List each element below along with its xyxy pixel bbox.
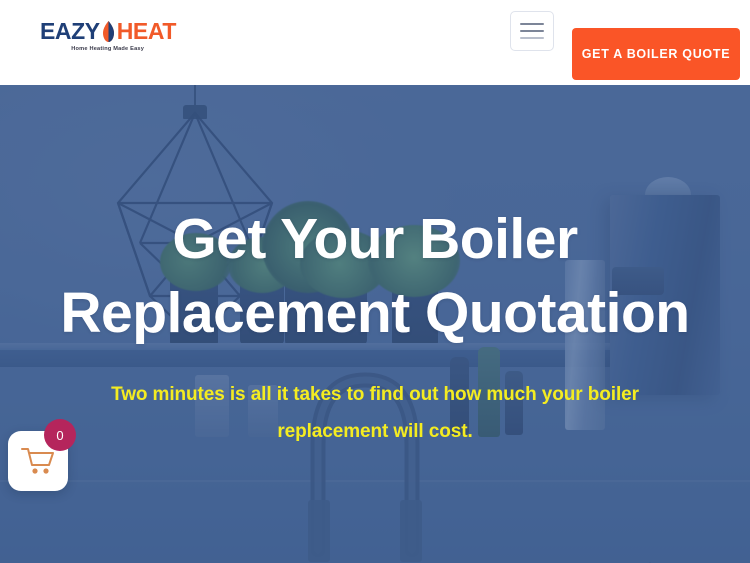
logo-wordmark: EAZY HEAT	[40, 20, 176, 43]
get-a-boiler-quote-button[interactable]: GET A BOILER QUOTE	[572, 28, 740, 80]
site-header: EAZY HEAT Home Heating Made Easy GET A B…	[0, 0, 750, 85]
site-logo[interactable]: EAZY HEAT Home Heating Made Easy	[38, 20, 178, 62]
shopping-cart-icon	[21, 446, 55, 476]
cart-count-badge: 0	[44, 419, 76, 451]
hero-subtitle: Two minutes is all it takes to find out …	[95, 376, 655, 450]
page-title: Get Your Boiler Replacement Quotation	[55, 202, 695, 350]
hero-section: Get Your Boiler Replacement Quotation Tw…	[0, 85, 750, 563]
logo-text-heat: HEAT	[117, 20, 176, 43]
hamburger-menu-icon[interactable]	[510, 11, 554, 51]
flame-icon	[101, 21, 116, 43]
floating-cart-widget[interactable]: 0	[8, 431, 68, 491]
menu-bar-1	[520, 23, 544, 25]
logo-text-eazy: EAZY	[40, 20, 100, 43]
logo-tagline: Home Heating Made Easy	[72, 46, 145, 52]
menu-bar-2	[520, 30, 544, 32]
menu-bar-3	[520, 37, 544, 39]
hero-content: Get Your Boiler Replacement Quotation Tw…	[0, 85, 750, 563]
